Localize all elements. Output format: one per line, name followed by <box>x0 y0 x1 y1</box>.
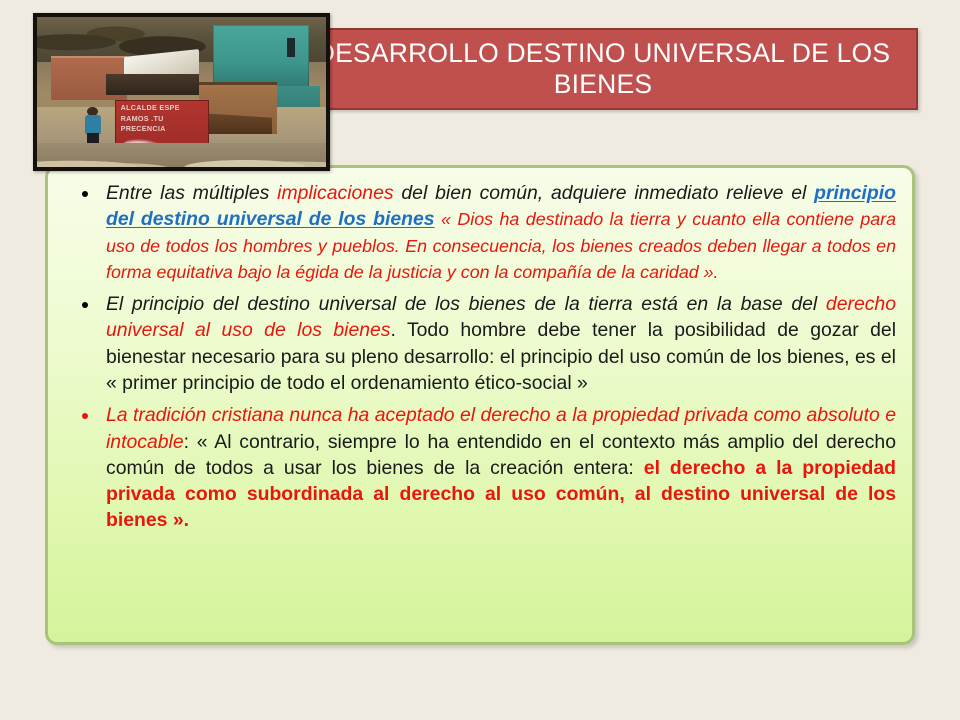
list-item: El principio del destino universal de lo… <box>64 291 896 396</box>
list-item: La tradición cristiana nunca ha aceptado… <box>64 402 896 533</box>
text-run-red-italic: implicaciones <box>277 182 393 204</box>
content-panel: Entre las múltiples implicaciones del bi… <box>45 165 915 645</box>
bullet-paragraph-2: El principio del destino universal de lo… <box>106 291 896 396</box>
list-item: Entre las múltiples implicaciones del bi… <box>64 180 896 285</box>
photo-teal-shack <box>213 25 308 88</box>
bullet-list: Entre las múltiples implicaciones del bi… <box>64 180 896 534</box>
photo-banner-line-1: ALCALDE ESPE <box>121 104 206 113</box>
photo-dark-roof <box>106 74 198 95</box>
bullet-paragraph-3: La tradición cristiana nunca ha aceptado… <box>106 402 896 533</box>
text-run-black-italic: El principio del destino universal de lo… <box>106 293 826 315</box>
slide-canvas: ALCALDE ESPE RAMOS .TU PRECENCIA DESARRO… <box>0 0 960 720</box>
slide-title: DESARROLLO DESTINO UNIVERSAL DE LOS BIEN… <box>290 38 916 101</box>
photo-person-body <box>85 115 101 133</box>
photo-banner-line-2: RAMOS .TU <box>121 115 206 124</box>
slide-title-box: DESARROLLO DESTINO UNIVERSAL DE LOS BIEN… <box>288 28 918 110</box>
photo-wooden-stall <box>199 82 277 135</box>
photo-image: ALCALDE ESPE RAMOS .TU PRECENCIA <box>37 17 326 167</box>
bullet-paragraph-1: Entre las múltiples implicaciones del bi… <box>106 180 896 285</box>
photo-banner-line-3: PRECENCIA <box>121 125 206 134</box>
text-run-black-italic: Entre las múltiples <box>106 182 277 204</box>
slum-photo: ALCALDE ESPE RAMOS .TU PRECENCIA <box>33 13 330 171</box>
text-run-black-italic: del bien común, adquiere inmediato relie… <box>394 182 815 204</box>
photo-rubble <box>37 143 326 167</box>
